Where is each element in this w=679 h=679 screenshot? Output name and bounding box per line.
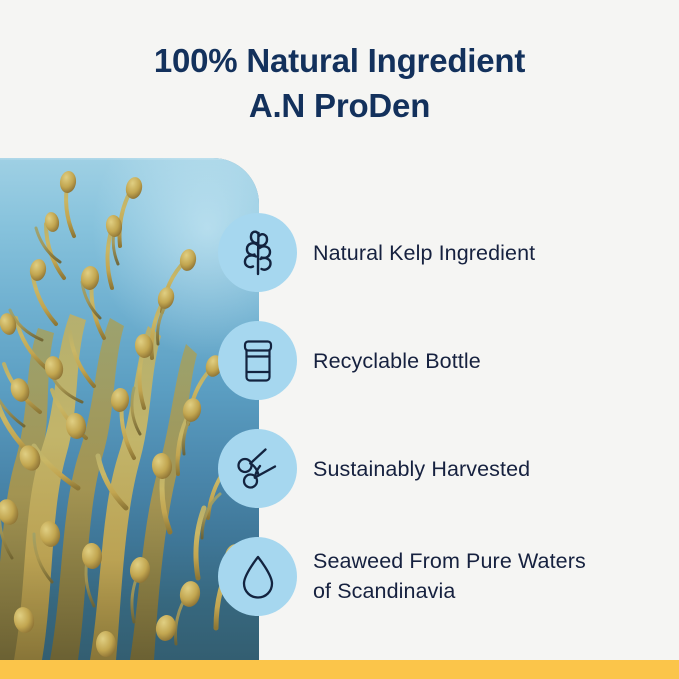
feature-label-pure-waters: Seaweed From Pure Waters of Scandinavia xyxy=(313,546,586,606)
scissors-icon xyxy=(218,429,297,508)
kelp-leaf-icon xyxy=(218,213,297,292)
feature-row-recyclable-bottle: Recyclable Bottle xyxy=(0,321,679,401)
bottom-accent-bar xyxy=(0,660,679,679)
feature-label-natural-kelp: Natural Kelp Ingredient xyxy=(313,238,535,268)
page-title-line-2: A.N ProDen xyxy=(0,83,679,128)
feature-label-recyclable-bottle: Recyclable Bottle xyxy=(313,346,481,376)
water-drop-icon xyxy=(218,537,297,616)
page-title-line-1: 100% Natural Ingredient xyxy=(0,38,679,83)
feature-row-sustainably-harvested: Sustainably Harvested xyxy=(0,429,679,509)
page-title: 100% Natural Ingredient A.N ProDen xyxy=(0,38,679,128)
feature-label-sustainably-harvested: Sustainably Harvested xyxy=(313,454,530,484)
bottle-jar-icon xyxy=(218,321,297,400)
feature-row-pure-waters: Seaweed From Pure Waters of Scandinavia xyxy=(0,537,679,617)
feature-row-natural-kelp: Natural Kelp Ingredient xyxy=(0,213,679,293)
infographic-canvas: 100% Natural Ingredient A.N ProDen xyxy=(0,0,679,679)
